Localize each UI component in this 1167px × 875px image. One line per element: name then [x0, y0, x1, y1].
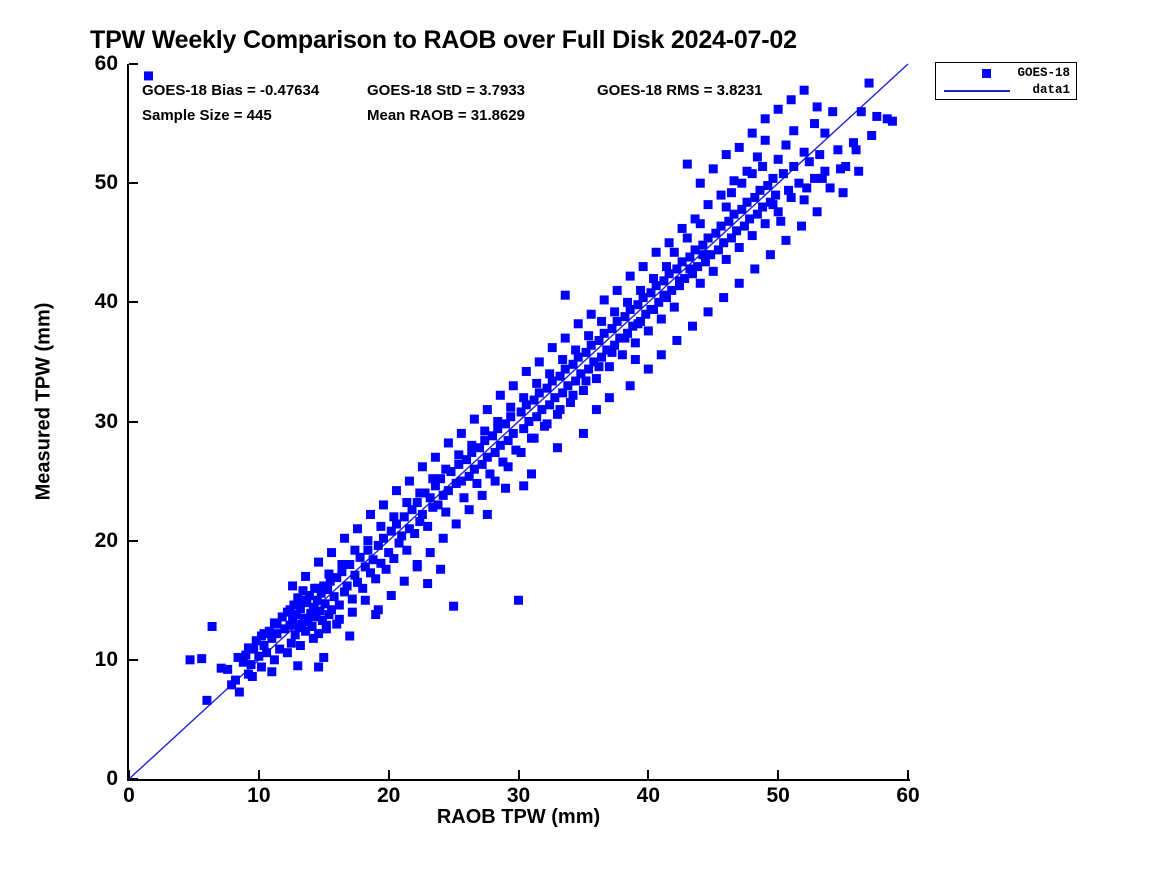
scatter-point — [335, 601, 344, 610]
scatter-point — [805, 157, 814, 166]
scatter-point — [727, 188, 736, 197]
scatter-point — [693, 262, 702, 271]
scatter-point — [610, 307, 619, 316]
scatter-point — [865, 79, 874, 88]
scatter-point — [667, 286, 676, 295]
scatter-point — [828, 107, 837, 116]
scatter-point — [766, 250, 775, 259]
scatter-point — [397, 531, 406, 540]
scatter-point — [730, 210, 739, 219]
scatter-point — [410, 529, 419, 538]
stat-sample-size: Sample Size = 445 — [142, 107, 272, 124]
scatter-point — [797, 222, 806, 231]
scatter-point — [439, 534, 448, 543]
scatter-point — [428, 474, 437, 483]
scatter-point — [535, 357, 544, 366]
scatter-point — [389, 512, 398, 521]
scatter-point — [683, 160, 692, 169]
scatter-point — [480, 427, 489, 436]
scatter-point — [454, 450, 463, 459]
scatter-point — [202, 696, 211, 705]
scatter-point — [327, 605, 336, 614]
scatter-point — [144, 71, 153, 80]
legend-entry-goes18: GOES-18 — [936, 65, 1076, 82]
scatter-point — [800, 86, 809, 95]
scatter-point — [322, 624, 331, 633]
scatter-point — [571, 346, 580, 355]
scatter-point — [802, 183, 811, 192]
scatter-point — [813, 207, 822, 216]
scatter-point — [605, 393, 614, 402]
scatter-point — [644, 326, 653, 335]
scatter-point — [314, 558, 323, 567]
scatter-point — [659, 291, 668, 300]
scatter-point — [582, 376, 591, 385]
scatter-point — [434, 500, 443, 509]
scatter-point — [722, 255, 731, 264]
scatter-point — [423, 579, 432, 588]
scatter-point — [810, 119, 819, 128]
scatter-point — [283, 648, 292, 657]
scatter-point — [579, 386, 588, 395]
scatter-point — [418, 510, 427, 519]
scatter-point — [345, 632, 354, 641]
scatter-point — [288, 581, 297, 590]
scatter-point — [818, 174, 827, 183]
scatter-point — [758, 203, 767, 212]
scatter-point — [465, 505, 474, 514]
scatter-point — [415, 489, 424, 498]
scatter-point — [745, 214, 754, 223]
scatter-point — [472, 479, 481, 488]
scatter-point — [761, 114, 770, 123]
scatter-point — [273, 620, 282, 629]
scatter-point — [704, 233, 713, 242]
scatter-point — [706, 250, 715, 259]
scatter-point — [826, 183, 835, 192]
legend-square-marker-icon — [982, 69, 991, 78]
scatter-point — [631, 338, 640, 347]
scatter-point — [418, 462, 427, 471]
scatter-point — [633, 319, 642, 328]
scatter-point — [833, 145, 842, 154]
scatter-point — [761, 219, 770, 228]
scatter-point — [639, 262, 648, 271]
scatter-point — [584, 331, 593, 340]
scatter-point — [543, 419, 552, 428]
scatter-point — [696, 219, 705, 228]
scatter-point — [626, 381, 635, 390]
scatter-point — [732, 226, 741, 235]
scatter-point — [324, 570, 333, 579]
scatter-point — [755, 186, 764, 195]
scatter-point — [519, 393, 528, 402]
scatter-point — [467, 441, 476, 450]
scatter-point — [405, 477, 414, 486]
scatter-point — [340, 534, 349, 543]
scatter-point — [789, 162, 798, 171]
scatter-point — [719, 238, 728, 247]
scatter-point — [350, 546, 359, 555]
scatter-point — [496, 391, 505, 400]
scatter-point — [491, 477, 500, 486]
scatter-point — [470, 415, 479, 424]
scatter-point — [748, 169, 757, 178]
scatter-point — [337, 560, 346, 569]
scatter-point — [247, 643, 256, 652]
scatter-point — [662, 262, 671, 271]
scatter-point — [436, 565, 445, 574]
legend-line-icon — [944, 90, 1010, 92]
scatter-point — [737, 179, 746, 188]
scatter-point — [657, 315, 666, 324]
scatter-point — [413, 562, 422, 571]
scatter-point — [267, 667, 276, 676]
scatter-point — [314, 662, 323, 671]
scatter-point — [311, 584, 320, 593]
scatter-point — [657, 350, 666, 359]
scatter-point — [298, 596, 307, 605]
scatter-point — [363, 536, 372, 545]
scatter-point — [592, 374, 601, 383]
scatter-point — [327, 548, 336, 557]
scatter-point — [691, 245, 700, 254]
scatter-point — [776, 217, 785, 226]
stat-std: GOES-18 StD = 3.7933 — [367, 82, 525, 99]
scatter-point — [789, 126, 798, 135]
scatter-point — [426, 493, 435, 502]
scatter-point — [402, 498, 411, 507]
scatter-point — [548, 343, 557, 352]
scatter-point — [722, 150, 731, 159]
stat-bias: GOES-18 Bias = -0.47634 — [142, 82, 319, 99]
scatter-point — [696, 279, 705, 288]
scatter-point — [389, 554, 398, 563]
scatter-point — [618, 350, 627, 359]
scatter-point — [501, 484, 510, 493]
scatter-point — [374, 605, 383, 614]
scatter-point — [810, 174, 819, 183]
scatter-point — [665, 238, 674, 247]
scatter-point — [587, 341, 596, 350]
scatter-point — [519, 481, 528, 490]
scatter-point — [683, 233, 692, 242]
scatter-point — [839, 188, 848, 197]
scatter-point — [857, 107, 866, 116]
scatter-point — [717, 222, 726, 231]
scatter-point — [675, 276, 684, 285]
scatter-point — [400, 577, 409, 586]
scatter-point — [556, 405, 565, 414]
scatter-point — [558, 355, 567, 364]
scatter-point — [605, 362, 614, 371]
scatter-point — [234, 653, 243, 662]
scatter-point — [613, 317, 622, 326]
scatter-point — [361, 596, 370, 605]
scatter-point — [852, 145, 861, 154]
scatter-point — [781, 236, 790, 245]
scatter-point — [366, 510, 375, 519]
scatter-point — [545, 369, 554, 378]
scatter-point — [550, 393, 559, 402]
scatter-point — [426, 548, 435, 557]
scatter-point — [722, 203, 731, 212]
scatter-point — [454, 460, 463, 469]
scatter-point — [431, 453, 440, 462]
scatter-point — [787, 95, 796, 104]
scatter-point — [730, 176, 739, 185]
scatter-point — [867, 131, 876, 140]
scatter-point — [480, 436, 489, 445]
scatter-point — [644, 365, 653, 374]
scatter-point — [774, 155, 783, 164]
scatter-point — [348, 595, 357, 604]
scatter-point — [257, 662, 266, 671]
scatter-point — [761, 136, 770, 145]
scatter-point — [709, 164, 718, 173]
scatter-points — [0, 0, 1167, 875]
scatter-point — [563, 381, 572, 390]
scatter-point — [371, 574, 380, 583]
scatter-point — [735, 243, 744, 252]
scatter-point — [670, 303, 679, 312]
scatter-point — [561, 365, 570, 374]
scatter-point — [678, 224, 687, 233]
scatter-point — [309, 634, 318, 643]
scatter-point — [348, 608, 357, 617]
scatter-point — [607, 348, 616, 357]
scatter-point — [670, 248, 679, 257]
scatter-point — [768, 174, 777, 183]
scatter-point — [449, 602, 458, 611]
scatter-point — [270, 655, 279, 664]
scatter-point — [774, 105, 783, 114]
scatter-point — [379, 534, 388, 543]
scatter-point — [402, 546, 411, 555]
scatter-point — [587, 310, 596, 319]
scatter-point — [672, 336, 681, 345]
scatter-point — [208, 622, 217, 631]
scatter-point — [459, 493, 468, 502]
scatter-point — [592, 405, 601, 414]
scatter-point — [506, 412, 515, 421]
scatter-point — [631, 355, 640, 364]
scatter-point — [509, 429, 518, 438]
scatter-point — [872, 112, 881, 121]
scatter-point — [382, 565, 391, 574]
scatter-point — [771, 191, 780, 200]
scatter-point — [441, 465, 450, 474]
scatter-point — [532, 379, 541, 388]
scatter-point — [753, 152, 762, 161]
scatter-point — [301, 572, 310, 581]
scatter-point — [636, 286, 645, 295]
scatter-point — [457, 477, 466, 486]
scatter-point — [335, 615, 344, 624]
scatter-point — [800, 195, 809, 204]
scatter-point — [509, 381, 518, 390]
scatter-point — [836, 164, 845, 173]
scatter-point — [735, 143, 744, 152]
scatter-point — [392, 486, 401, 495]
scatter-point — [750, 264, 759, 273]
scatter-point — [719, 293, 728, 302]
scatter-point — [343, 581, 352, 590]
scatter-point — [186, 655, 195, 664]
scatter-point — [423, 522, 432, 531]
scatter-point — [504, 462, 513, 471]
scatter-point — [561, 291, 570, 300]
scatter-point — [400, 512, 409, 521]
scatter-point — [743, 198, 752, 207]
scatter-point — [376, 522, 385, 531]
scatter-point — [626, 272, 635, 281]
scatter-point — [646, 305, 655, 314]
scatter-point — [345, 560, 354, 569]
scatter-point — [704, 200, 713, 209]
scatter-point — [285, 605, 294, 614]
scatter-point — [379, 500, 388, 509]
scatter-point — [319, 653, 328, 662]
scatter-point — [779, 169, 788, 178]
scatter-point — [444, 438, 453, 447]
scatter-point — [709, 267, 718, 276]
scatter-point — [574, 319, 583, 328]
scatter-point — [717, 191, 726, 200]
scatter-point — [794, 179, 803, 188]
scatter-point — [579, 429, 588, 438]
scatter-point — [553, 443, 562, 452]
scatter-point — [623, 298, 632, 307]
scatter-point — [595, 362, 604, 371]
scatter-point — [358, 584, 367, 593]
scatter-point — [293, 661, 302, 670]
scatter-point — [223, 665, 232, 674]
legend-label-data1: data1 — [1032, 83, 1070, 97]
chart-figure: TPW Weekly Comparison to RAOB over Full … — [0, 0, 1167, 875]
stat-mean-raob: Mean RAOB = 31.8629 — [367, 107, 525, 124]
stat-rms: GOES-18 RMS = 3.8231 — [597, 82, 763, 99]
scatter-point — [569, 391, 578, 400]
scatter-point — [330, 592, 339, 601]
scatter-point — [652, 248, 661, 257]
scatter-point — [273, 629, 282, 638]
scatter-point — [758, 162, 767, 171]
scatter-point — [369, 555, 378, 564]
scatter-point — [678, 257, 687, 266]
scatter-point — [800, 148, 809, 157]
scatter-point — [813, 102, 822, 111]
scatter-point — [781, 141, 790, 150]
scatter-point — [649, 274, 658, 283]
scatter-point — [506, 403, 515, 412]
scatter-point — [483, 453, 492, 462]
scatter-point — [561, 334, 570, 343]
scatter-point — [530, 434, 539, 443]
scatter-point — [688, 322, 697, 331]
scatter-point — [483, 510, 492, 519]
scatter-point — [517, 448, 526, 457]
scatter-point — [888, 117, 897, 126]
scatter-point — [287, 639, 296, 648]
scatter-point — [527, 469, 536, 478]
scatter-point — [413, 498, 422, 507]
scatter-point — [244, 670, 253, 679]
legend-entry-data1: data1 — [936, 82, 1076, 99]
scatter-point — [524, 417, 533, 426]
scatter-point — [522, 367, 531, 376]
scatter-point — [496, 441, 505, 450]
scatter-point — [514, 596, 523, 605]
scatter-point — [478, 491, 487, 500]
scatter-point — [787, 193, 796, 202]
scatter-point — [444, 486, 453, 495]
scatter-point — [685, 264, 694, 273]
scatter-point — [262, 648, 271, 657]
scatter-point — [452, 519, 461, 528]
scatter-point — [600, 329, 609, 338]
scatter-point — [696, 179, 705, 188]
scatter-point — [483, 405, 492, 414]
scatter-point — [436, 474, 445, 483]
scatter-point — [768, 200, 777, 209]
scatter-point — [363, 546, 372, 555]
scatter-point — [197, 654, 206, 663]
chart-legend: GOES-18 data1 — [935, 62, 1077, 100]
scatter-point — [470, 465, 479, 474]
scatter-point — [748, 129, 757, 138]
scatter-point — [815, 150, 824, 159]
scatter-point — [296, 641, 305, 650]
scatter-point — [260, 629, 269, 638]
legend-label-goes18: GOES-18 — [1017, 66, 1070, 80]
scatter-point — [231, 676, 240, 685]
scatter-point — [535, 388, 544, 397]
scatter-point — [748, 231, 757, 240]
scatter-point — [820, 129, 829, 138]
scatter-point — [537, 405, 546, 414]
scatter-point — [247, 660, 256, 669]
scatter-point — [854, 167, 863, 176]
scatter-point — [441, 508, 450, 517]
scatter-point — [613, 286, 622, 295]
scatter-point — [353, 524, 362, 533]
scatter-point — [235, 688, 244, 697]
scatter-point — [698, 250, 707, 259]
scatter-point — [597, 317, 606, 326]
scatter-point — [254, 652, 263, 661]
scatter-point — [457, 429, 466, 438]
scatter-point — [387, 591, 396, 600]
scatter-point — [620, 334, 629, 343]
scatter-point — [704, 307, 713, 316]
scatter-point — [275, 645, 284, 654]
scatter-point — [600, 295, 609, 304]
scatter-point — [493, 417, 502, 426]
scatter-point — [735, 279, 744, 288]
